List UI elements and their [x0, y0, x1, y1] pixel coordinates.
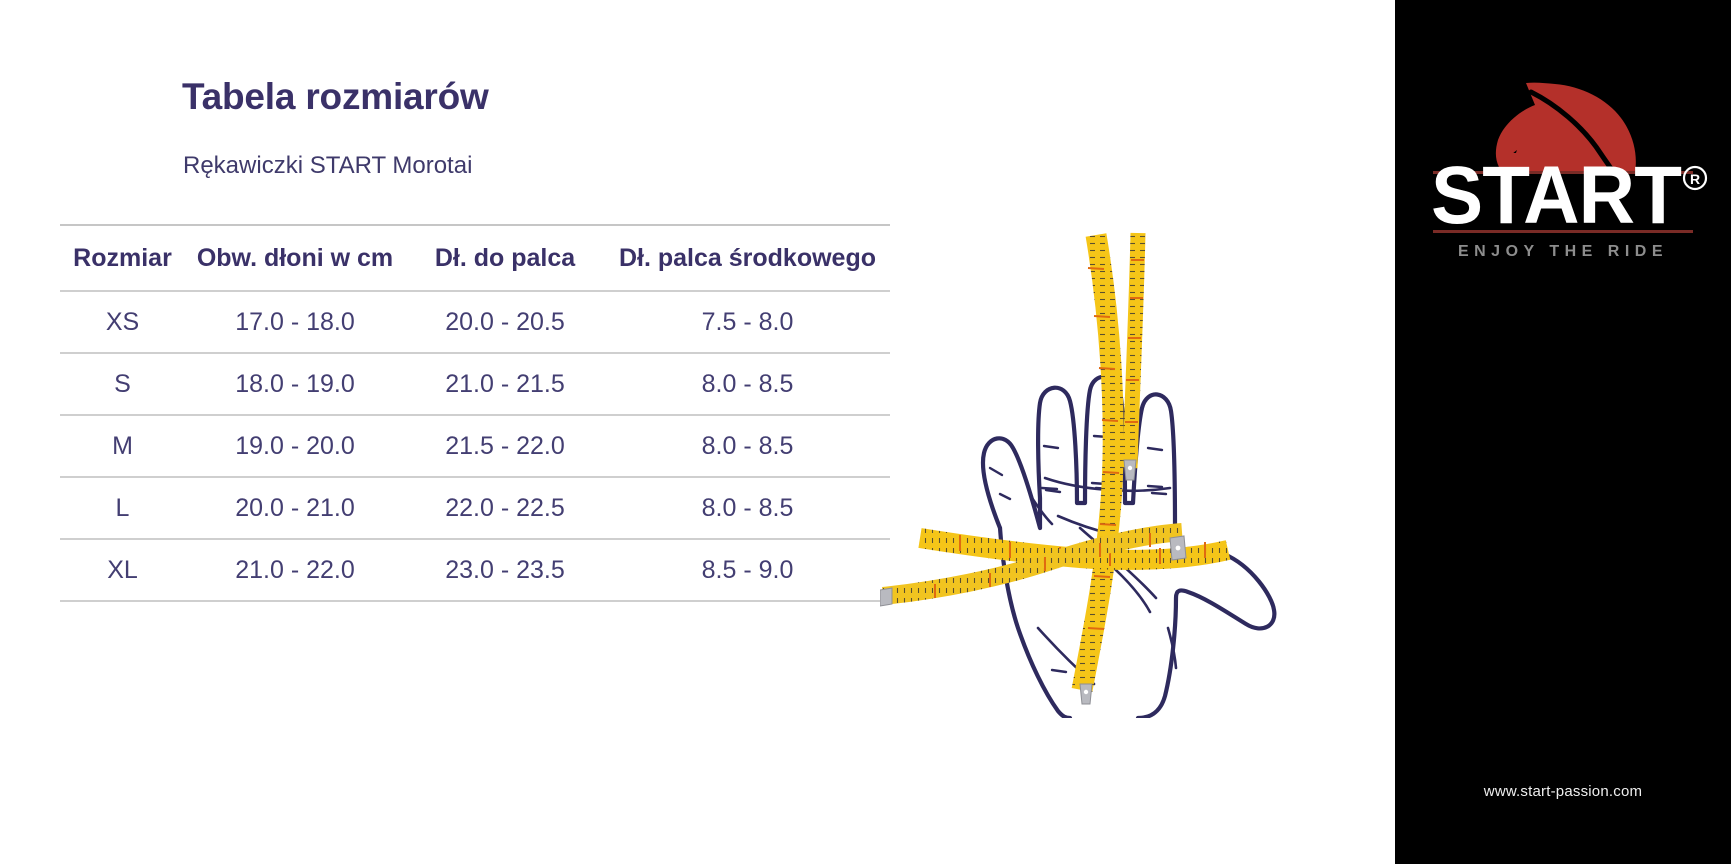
table-row: L 20.0 - 21.0 22.0 - 22.5 8.0 - 8.5 — [60, 477, 890, 539]
table-row: XS 17.0 - 18.0 20.0 - 20.5 7.5 - 8.0 — [60, 291, 890, 353]
column-header-middle-finger: Dł. palca środkowego — [605, 225, 890, 291]
column-header-size: Rozmiar — [60, 225, 185, 291]
cell-middle-finger: 7.5 - 8.0 — [605, 291, 890, 353]
cell-middle-finger: 8.0 - 8.5 — [605, 477, 890, 539]
cell-size: S — [60, 353, 185, 415]
tape-measure-finger — [1124, 233, 1144, 480]
start-logo: START R — [1395, 50, 1731, 240]
cell-length: 22.0 - 22.5 — [405, 477, 605, 539]
logo-wordmark: START — [1431, 150, 1682, 240]
cell-circumference: 18.0 - 19.0 — [185, 353, 405, 415]
cell-circumference: 17.0 - 18.0 — [185, 291, 405, 353]
table-header-row: Rozmiar Obw. dłoni w cm Dł. do palca Dł.… — [60, 225, 890, 291]
cell-circumference: 21.0 - 22.0 — [185, 539, 405, 601]
size-chart-page: Tabela rozmiarów Rękawiczki START Morota… — [0, 0, 1731, 864]
column-header-length: Dł. do palca — [405, 225, 605, 291]
cell-size: XS — [60, 291, 185, 353]
page-title: Tabela rozmiarów — [182, 76, 489, 118]
cell-circumference: 20.0 - 21.0 — [185, 477, 405, 539]
wordmark-text: START — [1431, 150, 1682, 240]
cell-length: 20.0 - 20.5 — [405, 291, 605, 353]
registered-mark-icon: R — [1684, 167, 1706, 189]
size-table-body: XS 17.0 - 18.0 20.0 - 20.5 7.5 - 8.0 S 1… — [60, 291, 890, 601]
cell-middle-finger: 8.0 - 8.5 — [605, 353, 890, 415]
logo-tagline: ENJOY THE RIDE — [1395, 243, 1731, 261]
cell-middle-finger: 8.0 - 8.5 — [605, 415, 890, 477]
table-row: S 18.0 - 19.0 21.0 - 21.5 8.0 - 8.5 — [60, 353, 890, 415]
brand-panel: START R ENJOY THE RIDE www.start-passion… — [1395, 0, 1731, 864]
svg-text:R: R — [1690, 171, 1700, 187]
size-table: Rozmiar Obw. dłoni w cm Dł. do palca Dł.… — [60, 224, 890, 602]
table-row: M 19.0 - 20.0 21.5 - 22.0 8.0 - 8.5 — [60, 415, 890, 477]
page-subtitle: Rękawiczki START Morotai — [183, 152, 472, 180]
cell-size: L — [60, 477, 185, 539]
cell-circumference: 19.0 - 20.0 — [185, 415, 405, 477]
cell-length: 21.5 - 22.0 — [405, 415, 605, 477]
cell-size: XL — [60, 539, 185, 601]
cell-middle-finger: 8.5 - 9.0 — [605, 539, 890, 601]
hand-measurement-illustration — [880, 198, 1280, 718]
brand-website-url: www.start-passion.com — [1395, 783, 1731, 800]
logo-rule-bottom — [1433, 230, 1693, 233]
cell-size: M — [60, 415, 185, 477]
cell-length: 21.0 - 21.5 — [405, 353, 605, 415]
table-row: XL 21.0 - 22.0 23.0 - 23.5 8.5 - 9.0 — [60, 539, 890, 601]
size-table-head: Rozmiar Obw. dłoni w cm Dł. do palca Dł.… — [60, 225, 890, 291]
cell-length: 23.0 - 23.5 — [405, 539, 605, 601]
content-area: Tabela rozmiarów Rękawiczki START Morota… — [0, 0, 1395, 864]
column-header-circumference: Obw. dłoni w cm — [185, 225, 405, 291]
